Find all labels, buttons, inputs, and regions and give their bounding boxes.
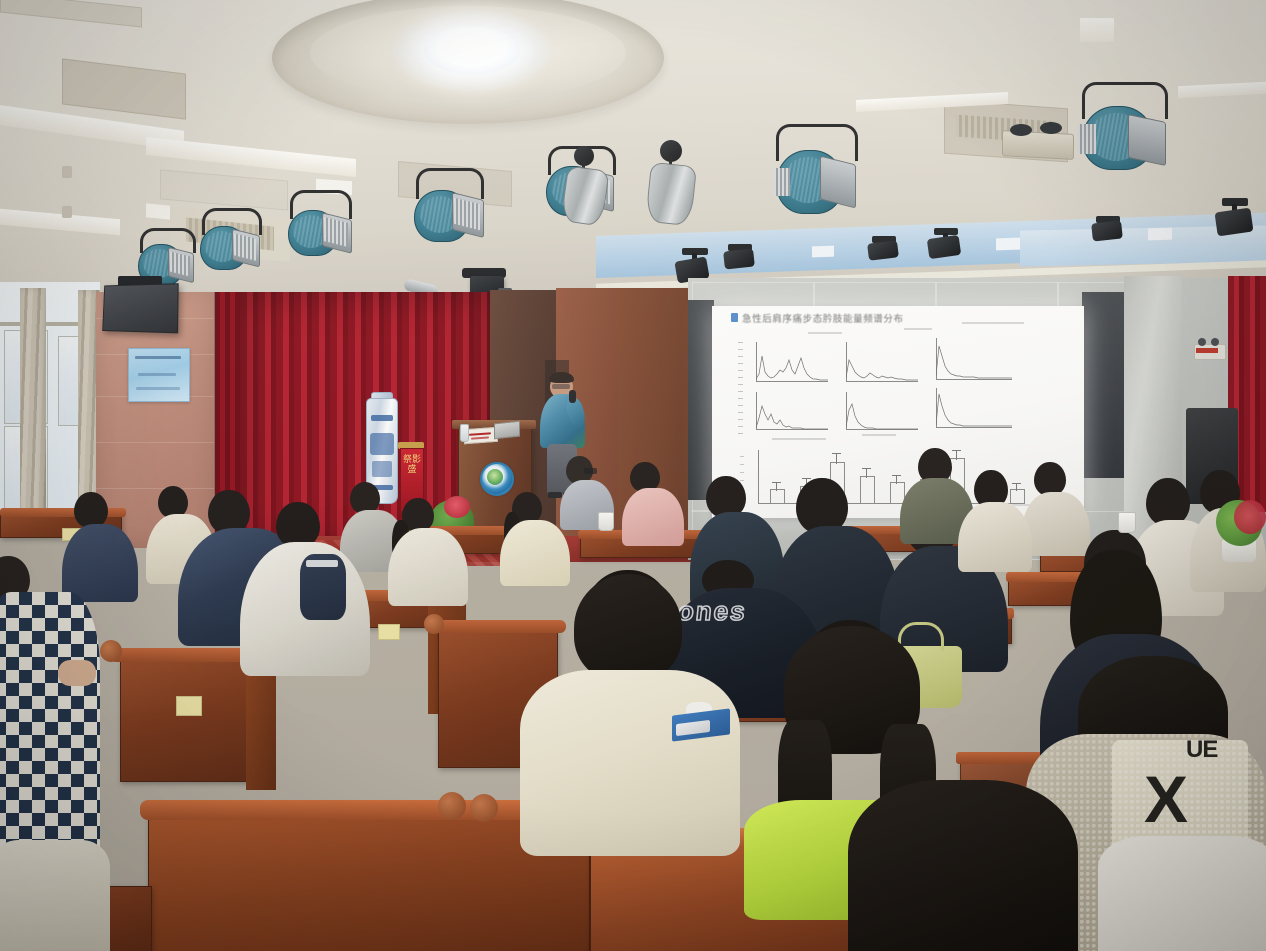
presenter-hair: [549, 372, 574, 383]
ceiling-access-panel: [62, 58, 186, 119]
ceiling-light-strip: [0, 209, 120, 235]
head: [1034, 462, 1066, 496]
panel-caption: [904, 328, 932, 330]
hand: [58, 660, 96, 686]
soffit-downlight: [812, 246, 834, 258]
body: [622, 488, 684, 546]
jacket-text-ue: UE: [1186, 736, 1217, 764]
hair: [848, 780, 1078, 951]
bench-rail: [432, 620, 566, 633]
slide-line-panel-4: [756, 392, 828, 430]
presenter-glasses: [552, 384, 570, 389]
ceiling-fixture-lamp: [1010, 124, 1032, 136]
soffit-downlight: [996, 238, 1020, 251]
paper-cup: [598, 512, 614, 531]
slide-line-panel-6: [936, 388, 1012, 428]
head: [74, 492, 108, 528]
body: [958, 502, 1032, 572]
wall-dark-panel: [688, 300, 714, 500]
smoke-detector: [62, 206, 72, 218]
panel-caption: [962, 322, 1024, 324]
body: [1022, 492, 1090, 556]
paper-cup: [1118, 512, 1136, 533]
bar-chart-caption: [862, 434, 896, 436]
glasses-icon: [584, 468, 597, 474]
stage-flower-arrangement: [444, 496, 470, 518]
ceiling-fixture-lamp: [1040, 122, 1062, 134]
wall-mounted-speaker: [102, 283, 178, 333]
bag-handle: [898, 622, 944, 651]
jacket-text-x: X: [1144, 766, 1188, 832]
body: [1098, 836, 1266, 951]
wall-dark-panel: [1082, 292, 1128, 478]
water-bottle: [460, 424, 469, 442]
seat-tag: [378, 624, 400, 640]
microphone: [569, 390, 576, 403]
panel-caption: [808, 332, 842, 334]
jacket-logo: [306, 560, 338, 567]
ceiling-downlight: [1080, 18, 1114, 42]
seat-tag: [176, 696, 202, 716]
ceiling-light-strip: [1178, 82, 1266, 99]
bench-knob: [470, 794, 498, 822]
banner-text: 祭影盛: [401, 455, 423, 475]
ceiling-panel: [160, 169, 288, 210]
ceiling-fixture: [1002, 130, 1074, 160]
slide-bullet-icon: [731, 313, 738, 322]
hair: [574, 574, 682, 682]
bench-rail: [110, 648, 260, 662]
bench-knob: [438, 792, 466, 820]
wall-poster: [128, 348, 190, 402]
body: [0, 840, 110, 951]
ceiling-panel: [0, 0, 142, 27]
presenter-laptop: [494, 421, 520, 440]
presenter-shoe: [548, 492, 562, 498]
projection-screen: 急性后肩序痛步态肣肢能量频谱分布: [712, 306, 1084, 518]
exit-light-label: [1196, 348, 1218, 353]
bench-knob: [100, 640, 122, 662]
hoodie-graphic-text: ones: [676, 596, 748, 627]
bench-side-panel: [246, 668, 276, 790]
exit-light-lamp: [1198, 338, 1206, 346]
slide-line-panel-5: [846, 392, 918, 430]
window-curtain: [20, 288, 46, 520]
red-flowers: [1234, 500, 1266, 534]
bar-chart-caption: [772, 438, 826, 440]
exit-light-lamp: [1211, 338, 1219, 346]
wooden-bench: [120, 660, 248, 782]
dome-ceiling-light: [424, 26, 520, 74]
institution-emblem-inner: [487, 469, 503, 485]
podium-nameplate: [464, 427, 498, 444]
slide-y-axis-ticks: [738, 342, 743, 434]
head: [1146, 478, 1190, 526]
lecture-hall-photo: 祭影盛: [0, 0, 1266, 951]
soffit-downlight: [1148, 228, 1172, 241]
body: [520, 670, 740, 856]
slide-title: 急性后肩序痛步态肣肢能量频谱分布: [742, 311, 904, 325]
slide-line-panel-1: [756, 342, 828, 382]
smoke-detector: [62, 166, 72, 178]
body: [388, 528, 468, 606]
body: [500, 520, 570, 586]
slide-line-panel-3: [936, 338, 1012, 380]
body: [62, 524, 138, 602]
bench-knob: [424, 614, 444, 634]
slide-line-panel-2: [846, 342, 918, 382]
